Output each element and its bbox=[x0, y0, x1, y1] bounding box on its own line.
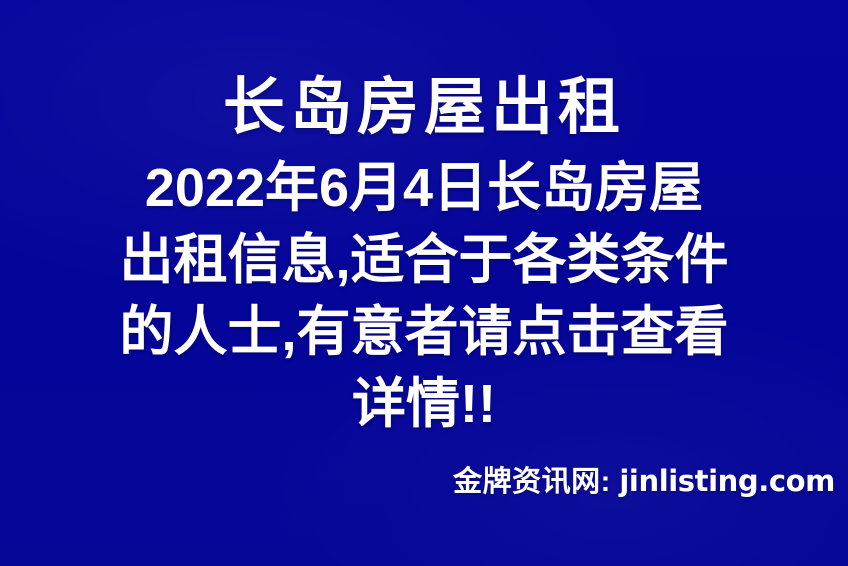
body-line-3: 的人士,有意者请点击查看 bbox=[72, 296, 776, 368]
site-domain-label: jinlisting.com bbox=[619, 464, 835, 498]
poster-body-text: 2022年6月4日长岛房屋 出租信息,适合于各类条件 的人士,有意者请点击查看 … bbox=[72, 152, 776, 440]
page-title: 长岛房屋出租 bbox=[0, 75, 848, 142]
body-line-4: 详情!! bbox=[72, 368, 776, 440]
body-line-1: 2022年6月4日长岛房屋 bbox=[72, 152, 776, 224]
poster-content-layer: 长岛房屋出租 2022年6月4日长岛房屋 出租信息,适合于各类条件 的人士,有意… bbox=[0, 0, 848, 566]
rental-announcement-poster: 长岛房屋出租 2022年6月4日长岛房屋 出租信息,适合于各类条件 的人士,有意… bbox=[0, 0, 848, 566]
body-line-2: 出租信息,适合于各类条件 bbox=[72, 224, 776, 296]
site-name-label: 金牌资讯网: bbox=[453, 466, 611, 498]
site-credit: 金牌资讯网: jinlisting.com bbox=[453, 458, 835, 500]
